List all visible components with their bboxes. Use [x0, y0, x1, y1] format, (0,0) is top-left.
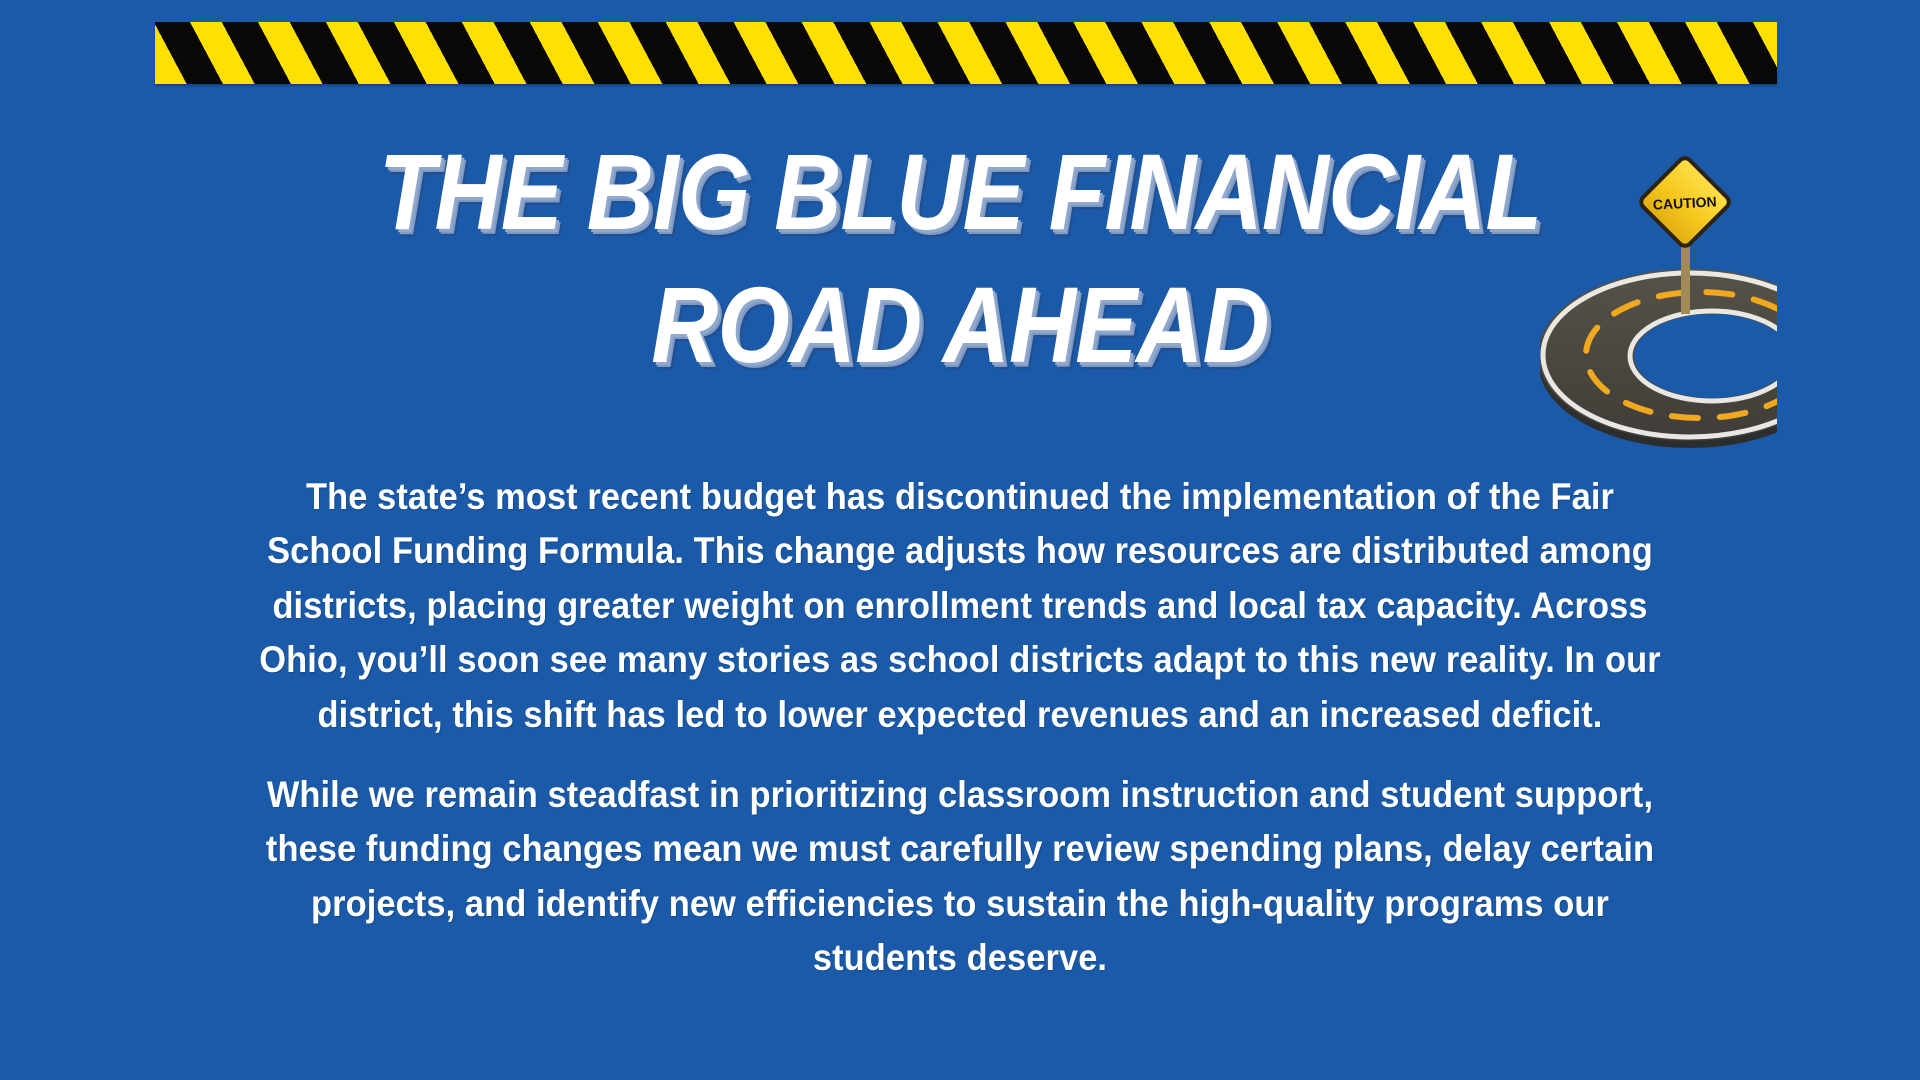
caution-sign-label: CAUTION: [1652, 193, 1717, 212]
curving-road-icon: CAUTION: [1540, 150, 1777, 450]
sign-post-icon: [1681, 242, 1690, 314]
title-line-2: ROAD AHEAD: [134, 261, 1785, 388]
road-illustration: CAUTION: [1540, 150, 1777, 450]
caution-tape-banner: [155, 22, 1777, 84]
body-copy: The state’s most recent budget has disco…: [200, 470, 1720, 985]
road-body: [1540, 269, 1777, 448]
paragraph-2: While we remain steadfast in prioritizin…: [253, 768, 1667, 986]
paragraph-1: The state’s most recent budget has disco…: [253, 470, 1667, 742]
title-line-1: THE BIG BLUE FINANCIAL: [134, 128, 1785, 255]
poster-canvas: THE BIG BLUE FINANCIAL ROAD AHEAD: [0, 0, 1920, 1080]
